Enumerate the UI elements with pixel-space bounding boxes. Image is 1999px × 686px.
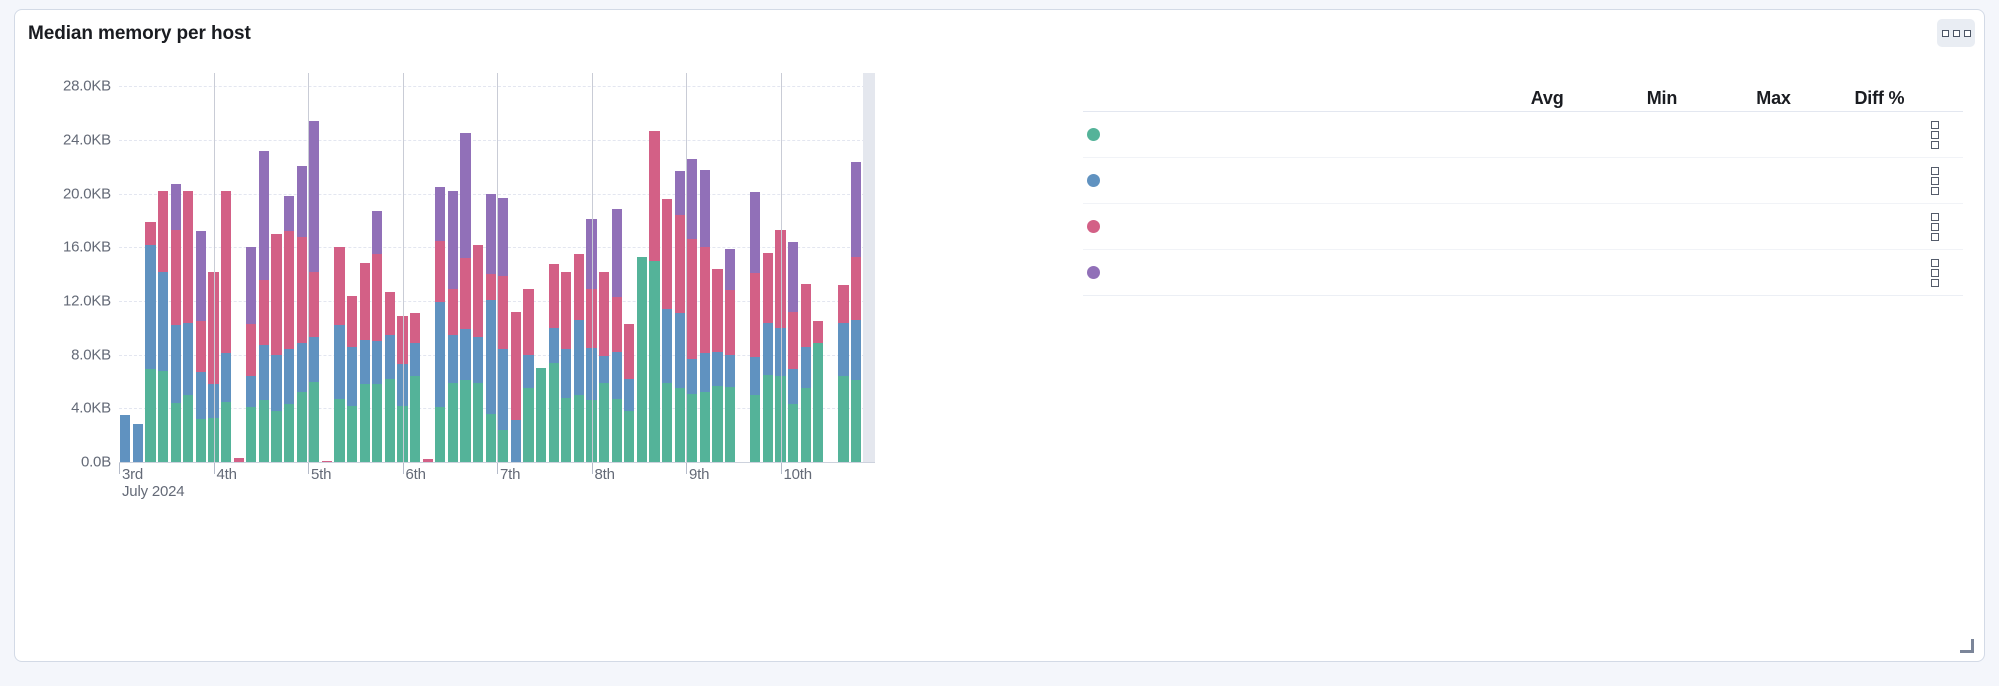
bar-segment[interactable] — [297, 166, 307, 237]
bar-stack[interactable] — [561, 73, 571, 462]
bar-stack[interactable] — [801, 73, 811, 462]
bar-stack[interactable] — [523, 73, 533, 462]
bar-stack[interactable] — [851, 73, 861, 462]
bar-segment[interactable] — [612, 352, 622, 399]
bar-segment[interactable] — [523, 388, 533, 462]
bar-segment[interactable] — [700, 392, 710, 462]
bar-segment[interactable] — [561, 398, 571, 462]
bar-segment[interactable] — [347, 347, 357, 406]
bar-segment[interactable] — [687, 394, 697, 462]
bar-stack[interactable] — [372, 73, 382, 462]
bar-segment[interactable] — [221, 402, 231, 462]
tick-mark — [403, 463, 404, 474]
bar-stack[interactable] — [675, 73, 685, 462]
x-axis-tick-label: 7th — [500, 466, 520, 483]
bar-segment[interactable] — [372, 384, 382, 462]
bar-segment[interactable] — [448, 191, 458, 289]
y-axis-tick-label: 28.0KB — [63, 78, 111, 95]
bar-stack[interactable] — [410, 73, 420, 462]
bar-stack[interactable] — [297, 73, 307, 462]
bar-segment[interactable] — [460, 133, 470, 258]
bar-stack[interactable] — [687, 73, 697, 462]
bar-segment[interactable] — [687, 359, 697, 394]
bar-segment[interactable] — [246, 247, 256, 323]
bar-segment[interactable] — [788, 242, 798, 312]
bar-segment[interactable] — [838, 376, 848, 462]
bar-segment[interactable] — [725, 355, 735, 387]
bar-segment[interactable] — [712, 352, 722, 386]
bar-segment[interactable] — [196, 231, 206, 321]
bar-segment[interactable] — [284, 196, 294, 231]
x-axis-tick-label: 4th — [217, 466, 237, 483]
more-horizontal-icon — [1942, 30, 1949, 37]
bar-segment[interactable] — [750, 357, 760, 395]
bar-stack[interactable] — [637, 73, 647, 462]
bar-segment[interactable] — [372, 341, 382, 384]
bar-segment[interactable] — [851, 257, 861, 320]
bar-stack[interactable] — [612, 73, 622, 462]
bar-stack[interactable] — [435, 73, 445, 462]
bar-segment[interactable] — [448, 289, 458, 335]
legend-header-avg[interactable]: Avg — [1452, 88, 1566, 109]
bar-segment[interactable] — [486, 300, 496, 414]
bar-segment[interactable] — [297, 237, 307, 343]
bar-segment[interactable] — [498, 349, 508, 429]
legend-row[interactable] — [1083, 158, 1963, 204]
bar-segment[interactable] — [712, 386, 722, 462]
bar-segment[interactable] — [662, 383, 672, 462]
bar-segment[interactable] — [712, 269, 722, 352]
bar-segment[interactable] — [410, 313, 420, 343]
bar-stack[interactable] — [259, 73, 269, 462]
bar-segment[interactable] — [145, 222, 155, 245]
bar-stack[interactable] — [738, 73, 748, 462]
bar-segment[interactable] — [750, 192, 760, 272]
bar-segment[interactable] — [763, 323, 773, 375]
y-axis-tick-label: 0.0B — [81, 454, 111, 471]
bar-segment[interactable] — [196, 419, 206, 462]
bar-segment[interactable] — [360, 340, 370, 384]
bar-segment[interactable] — [486, 274, 496, 299]
bar-stack[interactable] — [624, 73, 634, 462]
bar-stack[interactable] — [360, 73, 370, 462]
bar-segment[interactable] — [347, 406, 357, 462]
bar-segment[interactable] — [763, 253, 773, 323]
x-axis-tick-label: 8th — [595, 466, 615, 483]
bar-segment[interactable] — [662, 309, 672, 383]
bar-stack[interactable] — [750, 73, 760, 462]
bar-segment[interactable] — [700, 353, 710, 392]
bar-stack[interactable] — [246, 73, 256, 462]
bar-stack[interactable] — [171, 73, 181, 462]
bar-segment[interactable] — [133, 424, 143, 462]
series-color-swatch-icon — [1087, 174, 1100, 187]
bar-segment[interactable] — [372, 254, 382, 341]
tick-mark — [592, 463, 593, 474]
legend-series-name-cell[interactable] — [1083, 266, 1452, 279]
x-axis-sublabel: July 2024 — [122, 483, 184, 500]
bar-segment[interactable] — [183, 395, 193, 462]
bar-stack[interactable] — [700, 73, 710, 462]
day-separator — [403, 73, 404, 462]
bar-stack[interactable] — [788, 73, 798, 462]
bar-segment[interactable] — [851, 380, 861, 462]
bar-segment[interactable] — [309, 272, 319, 338]
bar-segment[interactable] — [410, 376, 420, 462]
bar-segment[interactable] — [523, 355, 533, 389]
bar-stack[interactable] — [838, 73, 848, 462]
bar-segment[interactable] — [612, 399, 622, 462]
bar-segment[interactable] — [435, 302, 445, 407]
y-axis: 0.0B4.0KB8.0KB12.0KB16.0KB20.0KB24.0KB28… — [15, 62, 119, 462]
y-axis-tick-label: 24.0KB — [63, 132, 111, 149]
bar-stack[interactable] — [549, 73, 559, 462]
bar-stack[interactable] — [649, 73, 659, 462]
bar-segment[interactable] — [145, 369, 155, 462]
series-color-swatch-icon — [1087, 220, 1100, 233]
bar-segment[interactable] — [725, 249, 735, 291]
bar-segment[interactable] — [675, 215, 685, 313]
bar-stack[interactable] — [334, 73, 344, 462]
bar-stack[interactable] — [196, 73, 206, 462]
bar-segment[interactable] — [448, 335, 458, 383]
bar-segment[interactable] — [549, 264, 559, 328]
tick-mark — [781, 463, 782, 474]
bar-segment[interactable] — [297, 343, 307, 393]
bar-segment[interactable] — [687, 239, 697, 358]
bar-segment[interactable] — [486, 194, 496, 274]
bar-segment[interactable] — [574, 254, 584, 320]
bar-segment[interactable] — [687, 159, 697, 239]
bar-segment[interactable] — [410, 343, 420, 377]
bar-segment[interactable] — [838, 323, 848, 377]
tick-mark — [497, 463, 498, 474]
bar-stack[interactable] — [511, 73, 521, 462]
panel-context-menu-button[interactable] — [1937, 19, 1975, 47]
bar-stack[interactable] — [347, 73, 357, 462]
bar-segment[interactable] — [612, 297, 622, 352]
y-axis-tick-label: 16.0KB — [63, 239, 111, 256]
bar-segment[interactable] — [574, 320, 584, 395]
bar-stack[interactable] — [145, 73, 155, 462]
bar-segment[interactable] — [385, 379, 395, 462]
bar-segment[interactable] — [158, 191, 168, 271]
bar-segment[interactable] — [599, 383, 609, 462]
bar-segment[interactable] — [221, 191, 231, 353]
drag-grip-icon[interactable] — [1931, 213, 1939, 241]
bar-segment[interactable] — [788, 369, 798, 404]
bar-segment[interactable] — [675, 313, 685, 388]
bar-segment[interactable] — [637, 257, 647, 462]
bar-stack[interactable] — [120, 73, 130, 462]
more-horizontal-icon — [1964, 30, 1971, 37]
legend-row-drag-cell[interactable] — [1906, 167, 1963, 195]
bar-stack[interactable] — [284, 73, 294, 462]
bar-segment[interactable] — [334, 325, 344, 399]
bar-segment[interactable] — [246, 376, 256, 407]
bar-stack[interactable] — [221, 73, 231, 462]
bar-stack[interactable] — [448, 73, 458, 462]
bar-segment[interactable] — [284, 404, 294, 462]
bar-stack[interactable] — [536, 73, 546, 462]
bar-segment[interactable] — [385, 292, 395, 335]
bar-segment[interactable] — [460, 258, 470, 329]
bar-stack[interactable] — [460, 73, 470, 462]
bar-segment[interactable] — [649, 131, 659, 261]
series-color-swatch-icon — [1087, 128, 1100, 141]
drag-grip-icon[interactable] — [1931, 259, 1939, 287]
bar-segment[interactable] — [801, 284, 811, 347]
bar-segment[interactable] — [271, 411, 281, 462]
bar-stack[interactable] — [473, 73, 483, 462]
bar-segment[interactable] — [549, 328, 559, 363]
bar-segment[interactable] — [813, 343, 823, 462]
x-axis-tick-label: 3rd — [122, 466, 143, 483]
bar-segment[interactable] — [183, 323, 193, 395]
bar-segment[interactable] — [385, 335, 395, 379]
tick-mark — [686, 463, 687, 474]
bar-stack[interactable] — [271, 73, 281, 462]
bar-stack[interactable] — [498, 73, 508, 462]
bar-segment[interactable] — [649, 261, 659, 462]
legend-row-drag-cell[interactable] — [1906, 213, 1963, 241]
bar-segment[interactable] — [473, 337, 483, 383]
tick-mark — [308, 463, 309, 474]
bar-segment[interactable] — [498, 198, 508, 276]
bar-segment[interactable] — [624, 411, 634, 462]
day-separator — [214, 73, 215, 462]
bar-segment[interactable] — [435, 187, 445, 241]
legend-header-max[interactable]: Max — [1679, 88, 1793, 109]
bar-segment[interactable] — [259, 400, 269, 462]
bar-segment[interactable] — [360, 263, 370, 339]
bar-segment[interactable] — [725, 290, 735, 354]
bar-segment[interactable] — [536, 368, 546, 462]
x-axis-tick-label: 10th — [784, 466, 812, 483]
bar-segment[interactable] — [347, 296, 357, 347]
legend-series-name-cell[interactable] — [1083, 220, 1452, 233]
bar-segment[interactable] — [561, 272, 571, 350]
bar-segment[interactable] — [851, 162, 861, 257]
day-separator — [497, 73, 498, 462]
bar-segment[interactable] — [498, 430, 508, 462]
legend-series-name-cell[interactable] — [1083, 128, 1452, 141]
legend-row-drag-cell[interactable] — [1906, 121, 1963, 149]
bar-segment[interactable] — [145, 245, 155, 370]
bar-segment[interactable] — [360, 384, 370, 462]
x-axis: 3rd4th5th6th7th8th9th10th — [119, 463, 875, 523]
bar-segment[interactable] — [221, 353, 231, 401]
bar-segment[interactable] — [158, 272, 168, 371]
bar-segment[interactable] — [788, 312, 798, 370]
bar-stack[interactable] — [423, 73, 433, 462]
bar-segment[interactable] — [624, 324, 634, 379]
bar-segment[interactable] — [271, 234, 281, 355]
bar-stack[interactable] — [385, 73, 395, 462]
bar-segment[interactable] — [196, 321, 206, 372]
bar-segment[interactable] — [838, 285, 848, 323]
current-interval-band — [863, 73, 875, 462]
bar-segment[interactable] — [246, 407, 256, 462]
bar-stack[interactable] — [712, 73, 722, 462]
bar-segment[interactable] — [183, 191, 193, 322]
legend-table: Avg Min Max Diff % — [1083, 73, 1963, 296]
y-axis-tick-label: 12.0KB — [63, 293, 111, 310]
bar-segment[interactable] — [700, 247, 710, 353]
bar-segment[interactable] — [334, 247, 344, 325]
bar-stack[interactable] — [599, 73, 609, 462]
day-separator — [592, 73, 593, 462]
bar-segment[interactable] — [271, 355, 281, 411]
bar-segment[interactable] — [675, 388, 685, 462]
screenshot-root: Median memory per host 0.0B4.0KB8.0KB12.… — [0, 0, 1999, 686]
bar-segment[interactable] — [851, 320, 861, 380]
bar-segment[interactable] — [725, 387, 735, 462]
plot-area[interactable] — [119, 73, 875, 462]
legend-body — [1083, 112, 1963, 296]
bar-segment[interactable] — [259, 151, 269, 280]
drag-grip-icon[interactable] — [1931, 167, 1939, 195]
bar-segment[interactable] — [511, 420, 521, 462]
bar-segment[interactable] — [599, 272, 609, 357]
series-color-swatch-icon — [1087, 266, 1100, 279]
bar-segment[interactable] — [624, 379, 634, 411]
legend-series-name-cell[interactable] — [1083, 174, 1452, 187]
bar-segment[interactable] — [750, 395, 760, 462]
bar-segment[interactable] — [523, 289, 533, 355]
legend-row[interactable] — [1083, 204, 1963, 250]
bar-stack[interactable] — [813, 73, 823, 462]
bar-segment[interactable] — [473, 383, 483, 462]
bar-segment[interactable] — [448, 383, 458, 462]
bar-segment[interactable] — [599, 356, 609, 383]
day-separator — [686, 73, 687, 462]
panel-resize-handle[interactable] — [1961, 640, 1974, 653]
bar-segment[interactable] — [334, 399, 344, 462]
legend-header-diff[interactable]: Diff % — [1793, 88, 1907, 109]
bar-segment[interactable] — [372, 211, 382, 254]
bar-stack[interactable] — [234, 73, 244, 462]
bar-segment[interactable] — [309, 382, 319, 462]
bar-segment[interactable] — [297, 392, 307, 462]
bar-segment[interactable] — [435, 241, 445, 303]
bar-segment[interactable] — [460, 380, 470, 462]
bar-segment[interactable] — [196, 372, 206, 419]
tick-mark — [119, 463, 120, 474]
bar-segment[interactable] — [171, 403, 181, 462]
bar-segment[interactable] — [788, 404, 798, 462]
bar-segment[interactable] — [486, 414, 496, 462]
bar-stack[interactable] — [725, 73, 735, 462]
bar-segment[interactable] — [246, 324, 256, 376]
bar-segment[interactable] — [309, 121, 319, 271]
bar-stack[interactable] — [486, 73, 496, 462]
bar-segment[interactable] — [259, 345, 269, 400]
bar-segment[interactable] — [549, 363, 559, 462]
chart-container: 0.0B4.0KB8.0KB12.0KB16.0KB20.0KB24.0KB28… — [15, 62, 1075, 532]
bar-segment[interactable] — [700, 170, 710, 248]
page-title: Median memory per host — [28, 23, 251, 45]
legend-row[interactable] — [1083, 250, 1963, 296]
bar-segment[interactable] — [612, 209, 622, 298]
bar-segment[interactable] — [120, 415, 130, 462]
bar-stack[interactable] — [322, 73, 332, 462]
bar-segment[interactable] — [473, 245, 483, 338]
bar-segment[interactable] — [801, 388, 811, 462]
bar-segment[interactable] — [750, 273, 760, 358]
bar-segment[interactable] — [813, 321, 823, 342]
bar-segment[interactable] — [675, 171, 685, 215]
bar-segment[interactable] — [309, 337, 319, 381]
day-separator — [781, 73, 782, 462]
bar-stack[interactable] — [158, 73, 168, 462]
bar-segment[interactable] — [171, 230, 181, 325]
bar-segment[interactable] — [498, 276, 508, 350]
legend-row-drag-cell[interactable] — [1906, 259, 1963, 287]
day-separator — [308, 73, 309, 462]
bar-segment[interactable] — [284, 349, 294, 404]
bar-stack[interactable] — [133, 73, 143, 462]
bar-segment[interactable] — [574, 395, 584, 462]
bar-stack[interactable] — [309, 73, 319, 462]
bar-stack[interactable] — [826, 73, 836, 462]
bar-segment[interactable] — [561, 349, 571, 397]
tick-mark — [214, 463, 215, 474]
x-axis-tick-label: 9th — [689, 466, 709, 483]
y-axis-tick-label: 8.0KB — [71, 346, 111, 363]
bar-stack[interactable] — [183, 73, 193, 462]
bar-segment[interactable] — [435, 407, 445, 462]
bar-segment[interactable] — [171, 184, 181, 230]
bar-segment[interactable] — [662, 199, 672, 309]
y-axis-tick-label: 4.0KB — [71, 400, 111, 417]
more-horizontal-icon — [1953, 30, 1960, 37]
bar-segment[interactable] — [460, 329, 470, 380]
y-axis-tick-label: 20.0KB — [63, 185, 111, 202]
bar-segment[interactable] — [158, 371, 168, 462]
bar-segment[interactable] — [284, 231, 294, 349]
bar-segment[interactable] — [171, 325, 181, 403]
bar-segment[interactable] — [259, 280, 269, 346]
bar-segment[interactable] — [801, 347, 811, 389]
panel-header: Median memory per host — [15, 10, 1984, 62]
bar-segment[interactable] — [511, 312, 521, 421]
dashboard-panel: Median memory per host 0.0B4.0KB8.0KB12.… — [14, 9, 1985, 662]
legend-header-min[interactable]: Min — [1566, 88, 1680, 109]
bar-stack[interactable] — [662, 73, 672, 462]
bar-stack[interactable] — [574, 73, 584, 462]
bar-stack[interactable] — [763, 73, 773, 462]
x-axis-tick-label: 6th — [406, 466, 426, 483]
x-axis-tick-label: 5th — [311, 466, 331, 483]
legend-header-row: Avg Min Max Diff % — [1083, 73, 1963, 112]
bar-segment[interactable] — [763, 375, 773, 462]
drag-grip-icon[interactable] — [1931, 121, 1939, 149]
legend-row[interactable] — [1083, 112, 1963, 158]
